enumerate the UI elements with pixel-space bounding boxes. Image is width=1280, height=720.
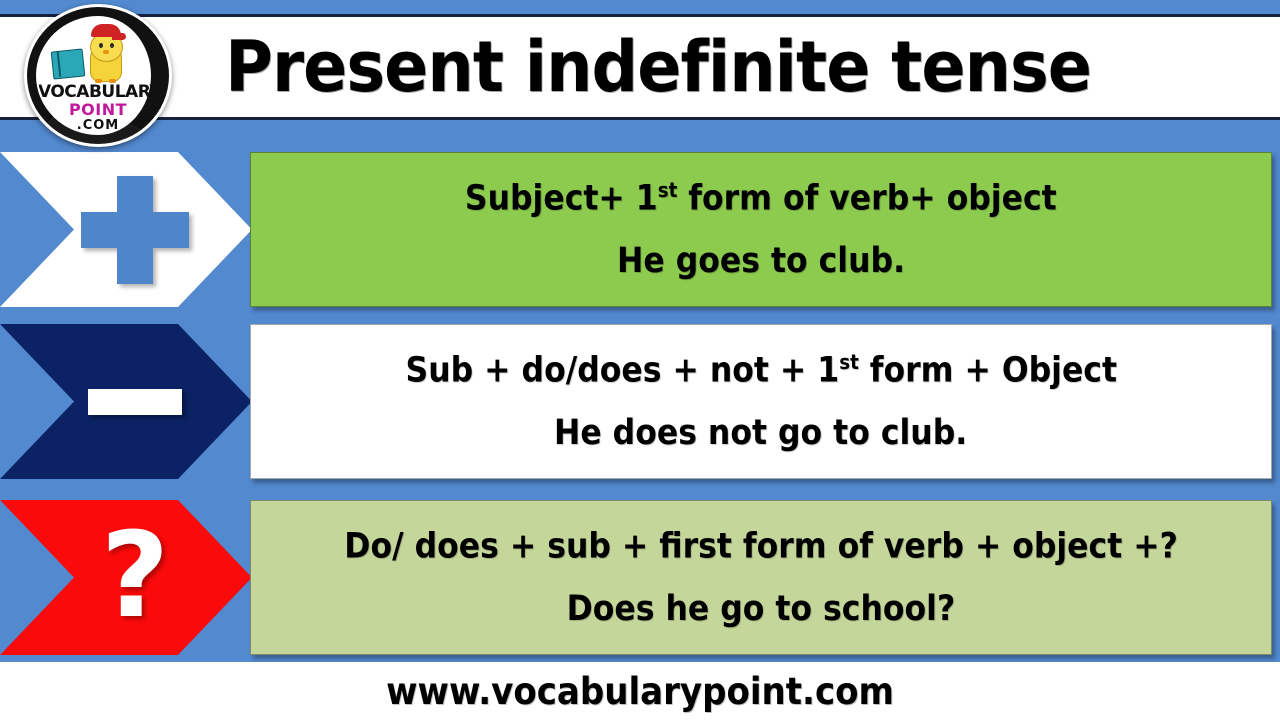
- formula-negative-after: form + Object: [859, 351, 1117, 391]
- infographic-page: Present indefinite tense VOCABULARY POIN…: [0, 0, 1280, 720]
- content-box-positive: Subject+ 1st form of verb+ object He goe…: [250, 152, 1272, 307]
- chevron-interrogative[interactable]: ?: [0, 500, 252, 655]
- formula-negative: Sub + do/does + not + 1st form + Object: [405, 350, 1117, 391]
- footer-website[interactable]: www.vocabularypoint.com: [386, 670, 894, 713]
- example-negative: He does not go to club.: [554, 413, 967, 453]
- page-title: Present indefinite tense: [188, 26, 1091, 108]
- formula-positive: Subject+ 1st form of verb+ object: [465, 178, 1057, 219]
- logo-ring: [27, 7, 169, 144]
- example-positive: He goes to club.: [617, 241, 905, 281]
- content-box-negative: Sub + do/does + not + 1st form + Object …: [250, 324, 1272, 479]
- plus-icon: [81, 176, 189, 284]
- formula-positive-after: form of verb+ object: [678, 179, 1057, 219]
- chevron-positive[interactable]: [0, 152, 252, 307]
- footer-bar: www.vocabularypoint.com: [0, 662, 1280, 720]
- formula-interrogative: Do/ does + sub + first form of verb + ob…: [344, 526, 1178, 567]
- chevron-negative[interactable]: [0, 324, 252, 479]
- row-negative: Sub + do/does + not + 1st form + Object …: [0, 324, 1280, 479]
- formula-negative-superscript: st: [839, 350, 859, 374]
- minus-icon: [88, 389, 182, 415]
- formula-positive-before: Subject+ 1: [465, 179, 658, 219]
- title-bar: Present indefinite tense: [0, 14, 1280, 120]
- example-interrogative: Does he go to school?: [567, 589, 956, 629]
- content-box-interrogative: Do/ does + sub + first form of verb + ob…: [250, 500, 1272, 655]
- row-positive: Subject+ 1st form of verb+ object He goe…: [0, 152, 1280, 307]
- formula-negative-before: Sub + do/does + not + 1: [405, 351, 839, 391]
- row-interrogative: ? Do/ does + sub + first form of verb + …: [0, 500, 1280, 655]
- formula-interrogative-before: Do/ does + sub + first form of verb + ob…: [344, 527, 1178, 567]
- formula-positive-superscript: st: [658, 178, 678, 202]
- brand-logo[interactable]: VOCABULARY POINT .COM: [24, 4, 172, 147]
- question-mark-icon: ?: [101, 516, 169, 634]
